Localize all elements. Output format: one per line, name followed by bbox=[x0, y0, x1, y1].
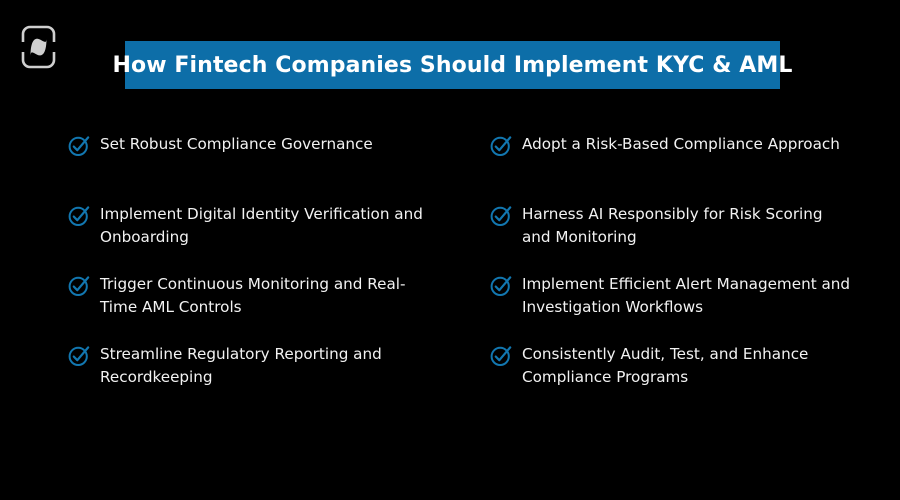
check-circle-icon bbox=[490, 205, 512, 227]
list-item[interactable]: Harness AI Responsibly for Risk Scoring … bbox=[490, 203, 900, 273]
list-item-label: Trigger Continuous Monitoring and Real-T… bbox=[100, 273, 430, 319]
check-circle-icon bbox=[68, 205, 90, 227]
list-item-label: Implement Digital Identity Verification … bbox=[100, 203, 430, 249]
list-item[interactable]: Adopt a Risk-Based Compliance Approach bbox=[490, 133, 900, 203]
check-circle-icon bbox=[490, 275, 512, 297]
check-circle-icon bbox=[68, 275, 90, 297]
right-column: Adopt a Risk-Based Compliance Approach H… bbox=[490, 133, 900, 413]
list-item[interactable]: Consistently Audit, Test, and Enhance Co… bbox=[490, 343, 900, 413]
list-item-label: Streamline Regulatory Reporting and Reco… bbox=[100, 343, 430, 389]
title-banner: How Fintech Companies Should Implement K… bbox=[125, 41, 780, 89]
left-column: Set Robust Compliance Governance Impleme… bbox=[68, 133, 478, 413]
list-item-label: Implement Efficient Alert Management and… bbox=[522, 273, 852, 319]
rounded-rect-swoosh-logo bbox=[21, 25, 56, 69]
checklist-columns: Set Robust Compliance Governance Impleme… bbox=[0, 133, 900, 413]
page-title: How Fintech Companies Should Implement K… bbox=[113, 53, 793, 78]
list-item[interactable]: Set Robust Compliance Governance bbox=[68, 133, 478, 203]
list-item-label: Adopt a Risk-Based Compliance Approach bbox=[522, 133, 840, 156]
list-item[interactable]: Trigger Continuous Monitoring and Real-T… bbox=[68, 273, 478, 343]
list-item-label: Harness AI Responsibly for Risk Scoring … bbox=[522, 203, 852, 249]
list-item-label: Set Robust Compliance Governance bbox=[100, 133, 373, 156]
check-circle-icon bbox=[490, 135, 512, 157]
check-circle-icon bbox=[490, 345, 512, 367]
check-circle-icon bbox=[68, 345, 90, 367]
list-item[interactable]: Implement Efficient Alert Management and… bbox=[490, 273, 900, 343]
list-item[interactable]: Implement Digital Identity Verification … bbox=[68, 203, 478, 273]
check-circle-icon bbox=[68, 135, 90, 157]
list-item-label: Consistently Audit, Test, and Enhance Co… bbox=[522, 343, 852, 389]
brand-logo bbox=[21, 25, 56, 69]
list-item[interactable]: Streamline Regulatory Reporting and Reco… bbox=[68, 343, 478, 413]
